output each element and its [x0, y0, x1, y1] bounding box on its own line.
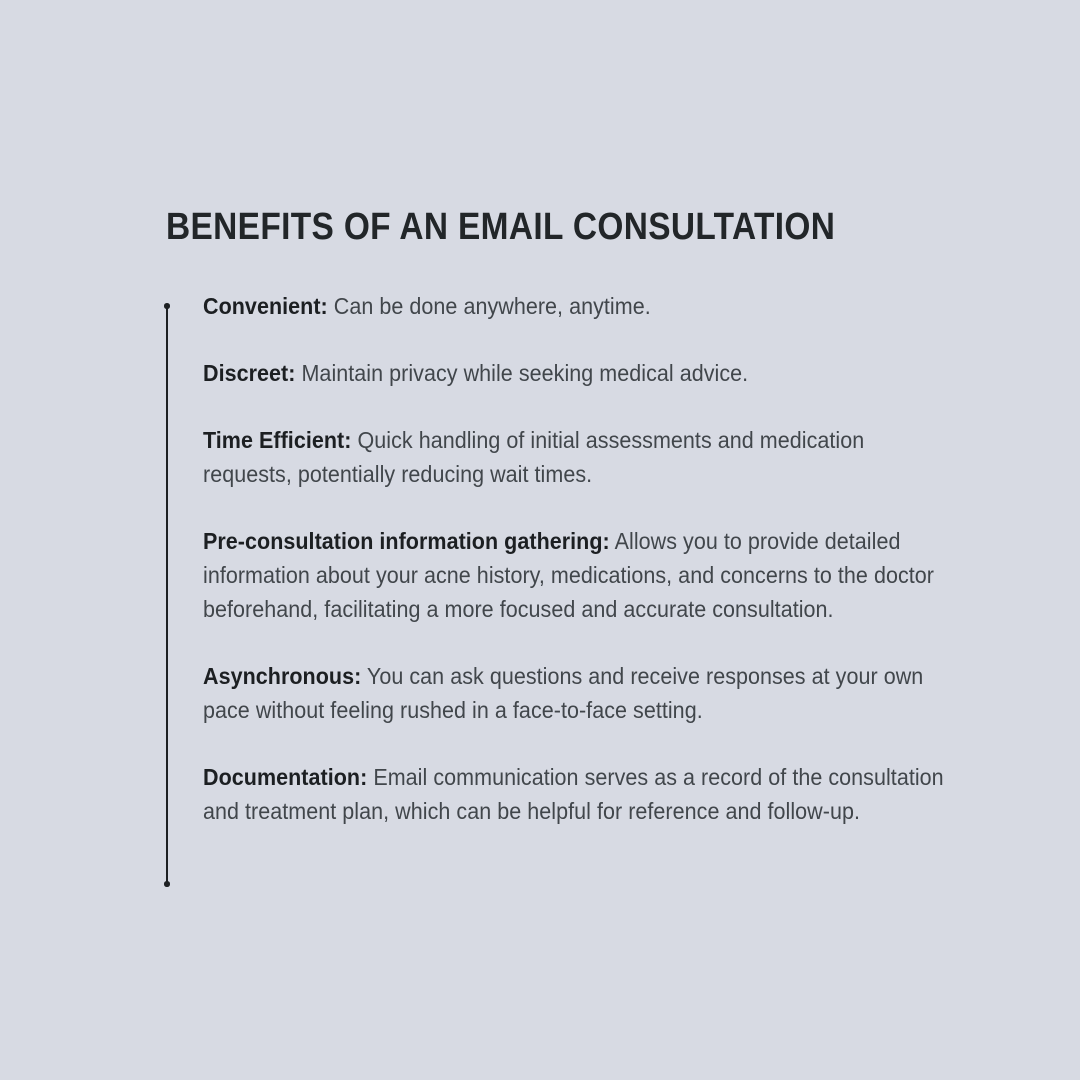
- benefit-term: Discreet:: [203, 360, 295, 386]
- benefit-term: Time Efficient:: [203, 427, 351, 453]
- accent-dot-bottom-icon: [164, 881, 170, 887]
- benefit-term: Asynchronous:: [203, 663, 361, 689]
- benefit-description: Can be done anywhere, anytime.: [334, 293, 651, 319]
- benefit-term: Convenient:: [203, 293, 328, 319]
- benefit-description: Maintain privacy while seeking medical a…: [301, 360, 748, 386]
- slide-canvas: BENEFITS OF AN EMAIL CONSULTATION Conven…: [0, 0, 1080, 1080]
- list-item: Pre-consultation information gathering: …: [203, 524, 953, 626]
- accent-line: [166, 306, 168, 884]
- accent-dot-top-icon: [164, 303, 170, 309]
- list-item: Discreet: Maintain privacy while seeking…: [203, 356, 953, 390]
- list-item: Documentation: Email communication serve…: [203, 760, 953, 828]
- benefit-term: Pre-consultation information gathering:: [203, 528, 610, 554]
- benefit-term: Documentation:: [203, 764, 367, 790]
- benefits-list: Convenient: Can be done anywhere, anytim…: [203, 289, 951, 828]
- list-item: Convenient: Can be done anywhere, anytim…: [203, 289, 953, 323]
- vertical-accent-rule: [164, 303, 169, 887]
- page-title: BENEFITS OF AN EMAIL CONSULTATION: [166, 208, 835, 248]
- list-item: Asynchronous: You can ask questions and …: [203, 659, 953, 727]
- list-item: Time Efficient: Quick handling of initia…: [203, 423, 953, 491]
